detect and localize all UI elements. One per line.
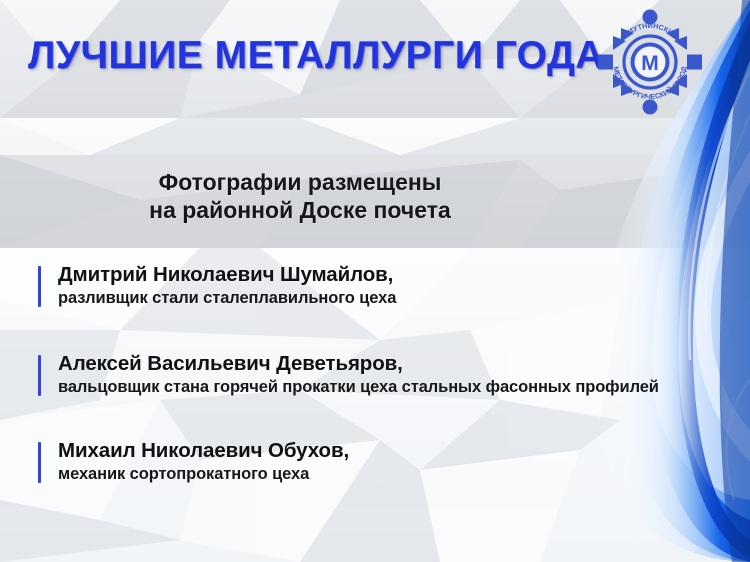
honoree-name: Михаил Николаевич Обухов, [58, 438, 678, 463]
logo-center-letter: М [641, 52, 659, 75]
page-title: ЛУЧШИЕ МЕТАЛЛУРГИ ГОДА [28, 34, 604, 78]
honoree-name: Алексей Васильевич Деветьяров, [58, 351, 678, 376]
honoree-role: разливщик стали сталеплавильного цеха [58, 287, 678, 309]
subtitle-line-2: на районной Доске почета [149, 196, 451, 224]
list-item: Михаил Николаевич Обухов, механик сортоп… [38, 438, 678, 485]
background-band-light [0, 118, 750, 155]
accent-bar-icon [38, 266, 41, 307]
list-item: Дмитрий Николаевич Шумайлов, разливщик с… [38, 262, 678, 309]
honoree-list: Дмитрий Николаевич Шумайлов, разливщик с… [38, 262, 678, 513]
slide-canvas: ЛУЧШИЕ МЕТАЛЛУРГИ ГОДА [0, 0, 750, 562]
honoree-role: механик сортопрокатного цеха [58, 463, 678, 485]
honoree-role: вальцовщик стана горячей прокатки цеха с… [58, 376, 678, 398]
omutninsk-metallurgical-plant-logo-icon: · ОМУТНИНСКИЙ · МЕТАЛЛУРГИЧЕСКИЙ ЗАВОД М [596, 8, 704, 116]
list-item: Алексей Васильевич Деветьяров, вальцовщи… [38, 351, 678, 398]
subtitle-line-1: Фотографии размещены [159, 169, 442, 195]
accent-bar-icon [38, 355, 41, 396]
honoree-name: Дмитрий Николаевич Шумайлов, [58, 262, 678, 287]
subtitle: Фотографии размещены на районной Доске п… [0, 168, 750, 224]
accent-bar-icon [38, 442, 41, 483]
